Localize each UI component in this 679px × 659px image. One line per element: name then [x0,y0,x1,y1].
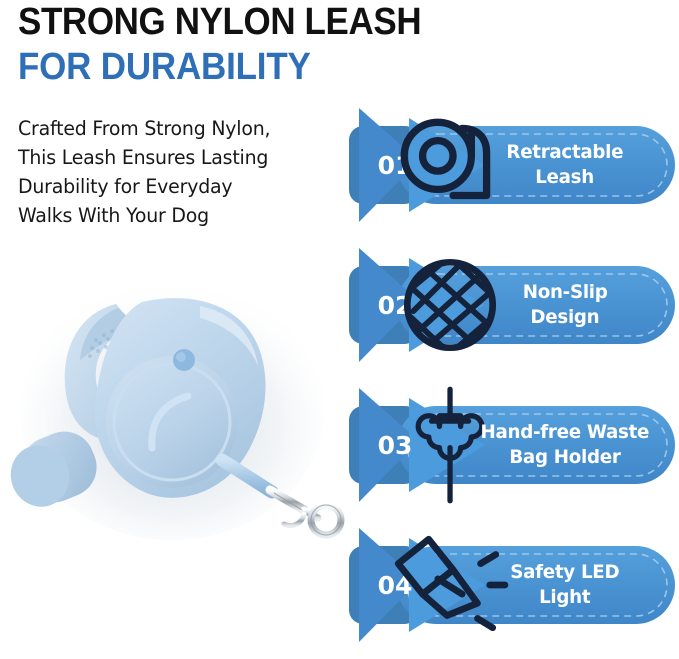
description-line-2: This Leash Ensures Lasting [18,143,328,172]
feature-list: 01 Retractable Leash [345,104,679,656]
infographic-canvas: STRONG NYLON LEASH FOR DURABILITY Crafte… [0,0,679,659]
description-line-1: Crafted From Strong Nylon, [18,114,328,143]
leash-disc [106,356,238,488]
description-paragraph: Crafted From Strong Nylon, This Leash En… [18,114,338,230]
page-title: STRONG NYLON LEASH FOR DURABILITY [18,2,578,88]
feature-row-03[interactable]: 03 Hand-free Waste Bag Holder [345,384,679,506]
product-image-retractable-leash [4,262,350,548]
feature-row-01[interactable]: 01 Retractable Leash [345,104,679,226]
leash-button-highlight [176,352,186,362]
feature-row-04[interactable]: 04 Safety LED Light [345,524,679,646]
description-line-3: Durability for Everyday [18,172,328,201]
description-line-4: Walks With Your Dog [18,201,328,230]
feature-row-02[interactable]: 02 Non-Slip Design [345,244,679,366]
headline-line-2: FOR DURABILITY [18,46,533,88]
headline-line-1: STRONG NYLON LEASH [18,2,533,42]
